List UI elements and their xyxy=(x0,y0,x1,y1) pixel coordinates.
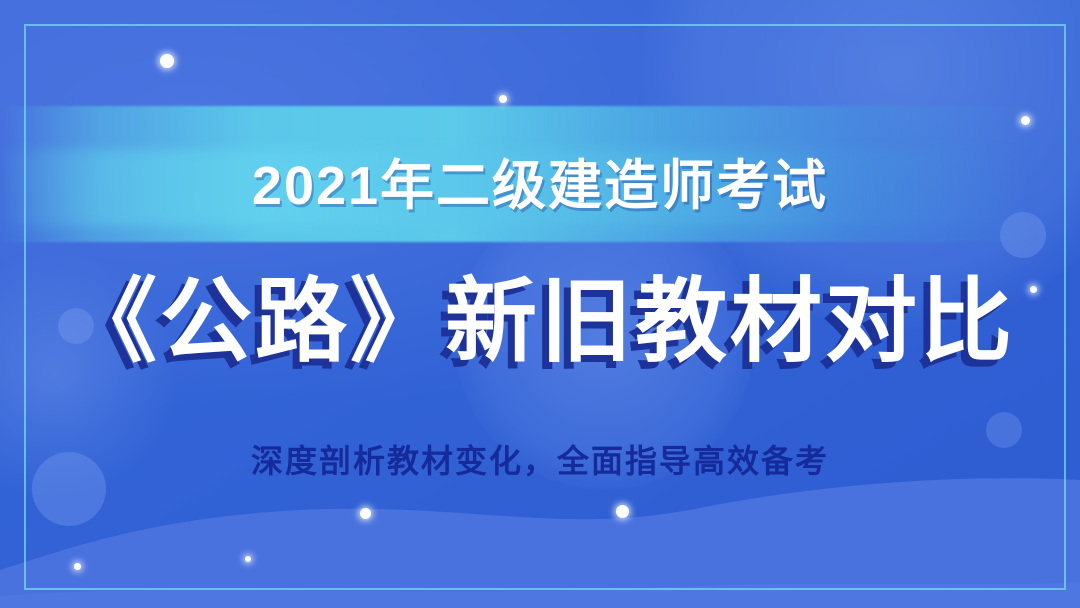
dot-upper-right xyxy=(1021,116,1030,125)
dot-top-left xyxy=(160,54,174,68)
page-title: 《公路》新旧教材对比 xyxy=(0,262,1080,382)
dot-top-center xyxy=(499,95,507,103)
subtitle-text: 深度剖析教材变化，全面指导高效备考 xyxy=(0,436,1080,486)
poster-canvas: 2021年二级建造师考试 《公路》新旧教材对比 深度剖析教材变化，全面指导高效备… xyxy=(0,0,1080,608)
dot-lower-left xyxy=(74,563,81,570)
dot-bottom-wave xyxy=(616,505,629,518)
dot-bottom-center xyxy=(360,508,371,519)
dot-bottom-tiny xyxy=(245,556,251,562)
eyebrow-title: 2021年二级建造师考试 xyxy=(0,150,1080,222)
bottom-wave-shape xyxy=(0,478,1080,608)
